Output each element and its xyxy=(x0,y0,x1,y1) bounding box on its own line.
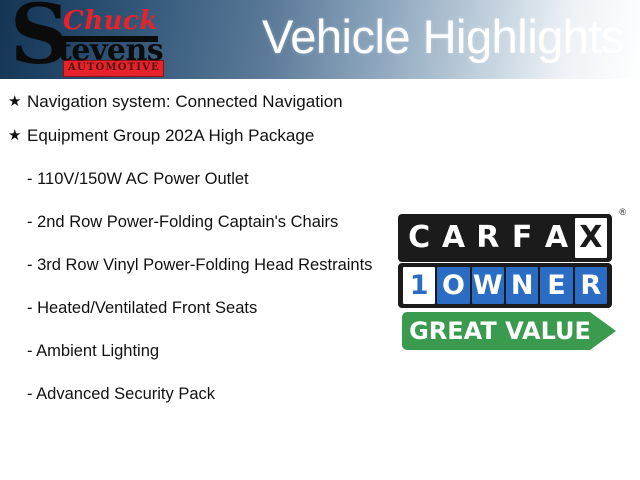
page-title: Vehicle Highlights xyxy=(262,6,624,68)
highlights-list: ★ Navigation system: Connected Navigatio… xyxy=(0,79,380,405)
list-item: - 2nd Row Power-Folding Captain's Chairs xyxy=(0,211,380,233)
carfax-letter: X xyxy=(575,218,607,258)
carfax-owner-row: 1 O W N E R xyxy=(398,263,612,308)
carfax-letter: C xyxy=(403,218,435,258)
carfax-owner-letter: N xyxy=(506,267,538,304)
carfax-letter: A xyxy=(437,218,469,258)
star-bullet-icon: ★ xyxy=(8,125,21,147)
star-bullet-icon: ★ xyxy=(8,91,21,113)
list-item: ★ Navigation system: Connected Navigatio… xyxy=(0,91,380,113)
carfax-value-banner: GREAT VALUE xyxy=(402,312,616,350)
carfax-banner-label: GREAT VALUE xyxy=(402,312,598,350)
list-item: - 3rd Row Vinyl Power-Folding Head Restr… xyxy=(0,254,380,276)
dealer-logo[interactable]: S Chuck tevens AUTOMOTIVE xyxy=(8,2,160,78)
carfax-badge[interactable]: ® C A R F A X 1 O W N E R GREAT VALUE xyxy=(398,205,626,350)
carfax-owner-letter: E xyxy=(540,267,572,304)
logo-first-name: Chuck xyxy=(63,7,158,35)
logo-tagline-text: AUTOMOTIVE xyxy=(68,61,160,74)
list-item: - Ambient Lighting xyxy=(0,340,380,362)
list-item-label: Equipment Group 202A High Package xyxy=(27,126,314,145)
list-item: ★ Equipment Group 202A High Package xyxy=(0,125,380,147)
list-item-label: Navigation system: Connected Navigation xyxy=(27,92,343,111)
carfax-brand-row: C A R F A X xyxy=(398,214,612,262)
carfax-owner-letter: W xyxy=(472,267,504,304)
registered-trademark-icon: ® xyxy=(619,208,626,217)
carfax-owner-letter: O xyxy=(437,267,469,304)
carfax-letter: F xyxy=(506,218,538,258)
list-item: - Heated/Ventilated Front Seats xyxy=(0,297,380,319)
carfax-letter: R xyxy=(472,218,504,258)
carfax-letter: A xyxy=(540,218,572,258)
list-item: - Advanced Security Pack xyxy=(0,383,380,405)
content-area: ★ Navigation system: Connected Navigatio… xyxy=(0,79,640,480)
carfax-owner-letter: 1 xyxy=(403,267,435,304)
list-item: - 110V/150W AC Power Outlet xyxy=(0,168,380,190)
carfax-owner-letter: R xyxy=(575,267,607,304)
page-header: S Chuck tevens AUTOMOTIVE Vehicle Highli… xyxy=(0,0,640,79)
